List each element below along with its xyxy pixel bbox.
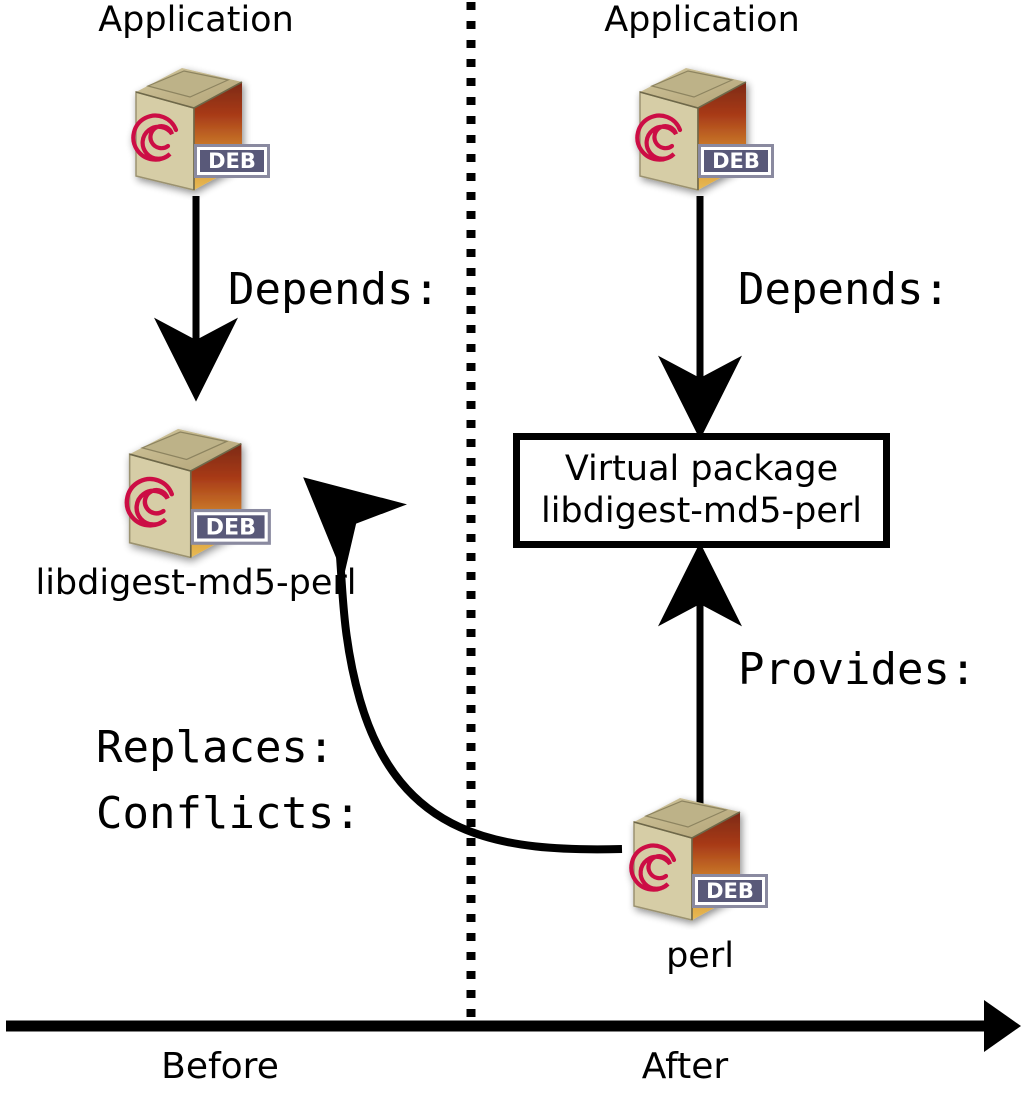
diagram-canvas: Application (0, 0, 1024, 1094)
before-depends-label: Depends: (228, 268, 440, 312)
svg-text:DEB: DEB (706, 879, 754, 903)
before-application-package-icon: DEB (118, 52, 278, 200)
svg-text:DEB: DEB (712, 149, 760, 173)
after-provider-package-icon: DEB (616, 782, 776, 930)
virtual-package-line-2: libdigest-md5-perl (541, 491, 862, 532)
before-application-title: Application (76, 2, 316, 39)
after-application-title: Application (582, 2, 822, 39)
timeline-arrowhead (984, 1000, 1021, 1052)
provides-label: Provides: (738, 648, 976, 692)
conflicts-label: Conflicts: (96, 792, 361, 836)
after-depends-label: Depends: (738, 268, 950, 312)
timeline-before-label: Before (110, 1046, 330, 1087)
deb-badge: DEB (692, 874, 768, 908)
before-target-package-label: libdigest-md5-perl (6, 565, 386, 602)
replaces-label: Replaces: (96, 726, 334, 770)
svg-text:DEB: DEB (208, 149, 256, 173)
deb-badge: DEB (194, 144, 270, 178)
timeline-after-label: After (585, 1046, 785, 1087)
deb-badge: DEB (698, 144, 774, 178)
virtual-package-box: Virtual package libdigest-md5-perl (513, 433, 890, 548)
svg-text:DEB: DEB (206, 514, 256, 540)
after-application-package-icon: DEB (622, 52, 782, 200)
before-target-package-icon: DEB (110, 412, 280, 568)
deb-badge: DEB (191, 509, 271, 545)
virtual-package-line-1: Virtual package (565, 449, 838, 490)
after-provider-package-label: perl (580, 938, 820, 975)
